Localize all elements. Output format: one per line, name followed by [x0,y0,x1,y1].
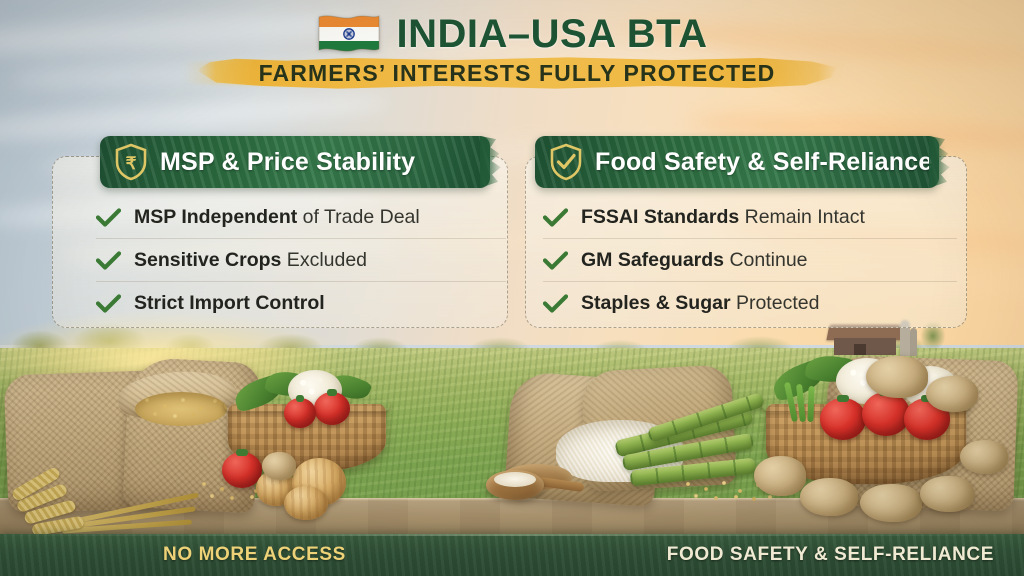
card-title: MSP & Price Stability [160,148,415,177]
list-item-rest: Continue [724,249,807,271]
list-msp-items: MSP Independent of Trade Deal Sensitive … [96,196,506,325]
list-item-rest: of Trade Deal [297,206,419,228]
list-item: GM Safeguards Continue [543,239,957,282]
potato [926,376,978,412]
footer-right-label: FOOD SAFETY & SELF-RELIANCE [667,544,994,566]
tomato [862,392,910,436]
scallion [807,386,814,422]
list-item: MSP Independent of Trade Deal [96,196,506,239]
page-header: INDIA–USA BTA [0,8,1024,60]
wooden-ladle [486,468,582,502]
footer-banner: NO MORE ACCESS FOOD SAFETY & SELF-RELIAN… [0,534,1024,576]
check-icon [96,208,121,227]
rupee-shield-icon: ₹ [114,143,148,181]
soybean-grain-pile [135,392,227,426]
list-item-bold: Strict Import Control [134,292,325,314]
tomato [820,398,866,440]
potato [960,440,1008,474]
footer-left-label: NO MORE ACCESS [163,544,346,566]
list-item: Strict Import Control [96,282,506,325]
list-item-rest: Excluded [281,249,367,271]
list-item-bold: Sensitive Crops [134,249,281,271]
list-item-bold: FSSAI Standards [581,206,739,228]
potato [262,452,296,480]
card-title: Food Safety & Self-Reliance [595,148,932,177]
list-item-bold: GM Safeguards [581,249,724,271]
card-header-food-safety: Food Safety & Self-Reliance [535,136,939,188]
page-subtitle: FARMERS’ INTERESTS FULLY PROTECTED [197,56,837,90]
check-icon [543,208,568,227]
potato [860,484,922,522]
list-item: FSSAI Standards Remain Intact [543,196,957,239]
list-item-bold: MSP Independent [134,206,297,228]
list-item-rest: Protected [731,292,820,314]
potato [754,456,806,496]
check-icon [96,294,121,313]
tomato [314,392,350,425]
potato [866,356,928,398]
check-icon [543,251,568,270]
list-item-bold: Staples & Sugar [581,292,731,314]
list-item: Sensitive Crops Excluded [96,239,506,282]
check-icon [96,251,121,270]
potato [800,478,858,516]
svg-text:₹: ₹ [126,154,137,173]
list-food-safety-items: FSSAI Standards Remain Intact GM Safegua… [543,196,957,325]
infographic-root: INDIA–USA BTA FARMERS’ INTERESTS FULLY P… [0,0,1024,576]
list-item-rest: Remain Intact [739,206,865,228]
card-header-msp: ₹ MSP & Price Stability [100,136,490,188]
page-title: INDIA–USA BTA [397,12,708,57]
india-flag-icon [317,13,381,55]
potato [920,476,974,512]
check-shield-icon [549,143,583,181]
onion [284,486,328,520]
subtitle-banner: FARMERS’ INTERESTS FULLY PROTECTED [197,56,837,90]
list-item: Staples & Sugar Protected [543,282,957,325]
tomato [284,398,316,428]
check-icon [543,294,568,313]
